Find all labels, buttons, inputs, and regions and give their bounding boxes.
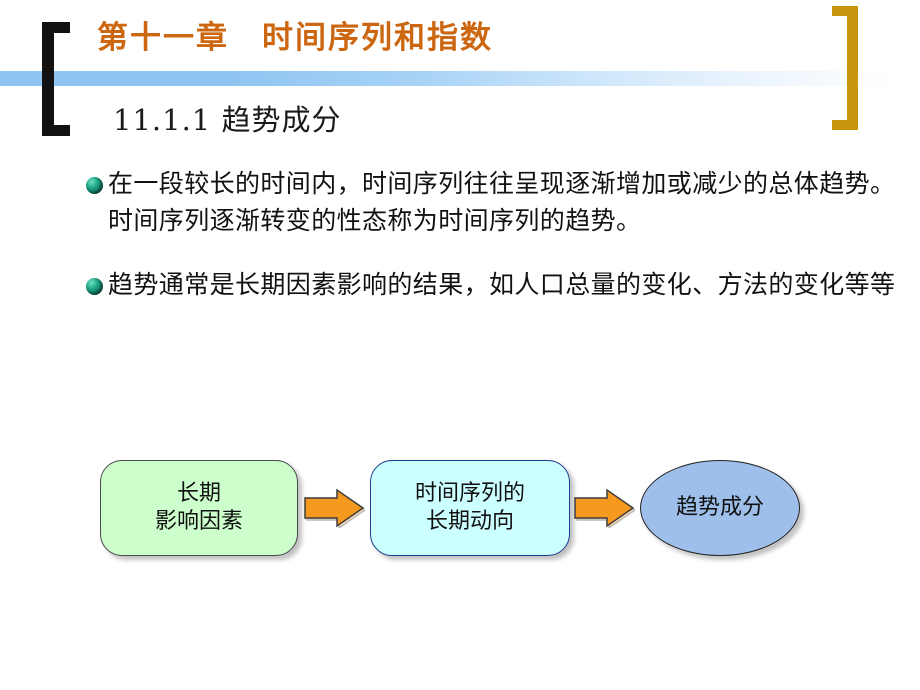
diagram-node-long-term-factors: 长期 影响因素 [100,460,298,556]
diagram-node-trend-component: 趋势成分 [640,460,800,556]
diagram-arrow-2-icon [573,488,635,528]
bullet-item: 趋势通常是长期因素影响的结果，如人口总量的变化、方法的变化等等 [0,267,920,304]
slide-header: 第十一章 时间序列和指数 11.1.1 趋势成分 [0,0,920,150]
bullet-text: 趋势通常是长期因素影响的结果，如人口总量的变化、方法的变化等等 [86,267,900,304]
trend-flow-diagram: 长期 影响因素 时间序列的 长期动向 趋势成分 [0,452,920,572]
diagram-arrow-1-icon [303,488,365,528]
decorative-bracket-right-icon [832,6,858,130]
decorative-bracket-left-icon [42,22,70,136]
bullet-item: 在一段较长的时间内，时间序列往往呈现逐渐增加或减少的总体趋势。时间序列逐渐转变的… [0,166,920,239]
slide-body: 在一段较长的时间内，时间序列往往呈现逐渐增加或减少的总体趋势。时间序列逐渐转变的… [0,166,920,332]
section-title: 11.1.1 趋势成分 [113,97,341,139]
globe-bullet-icon [86,177,103,194]
globe-bullet-icon [86,278,103,295]
chapter-title: 第十一章 时间序列和指数 [97,19,493,58]
diagram-node-time-series-long-term-direction: 时间序列的 长期动向 [370,460,570,556]
header-accent-band [0,71,920,86]
bullet-text: 在一段较长的时间内，时间序列往往呈现逐渐增加或减少的总体趋势。时间序列逐渐转变的… [86,166,900,239]
